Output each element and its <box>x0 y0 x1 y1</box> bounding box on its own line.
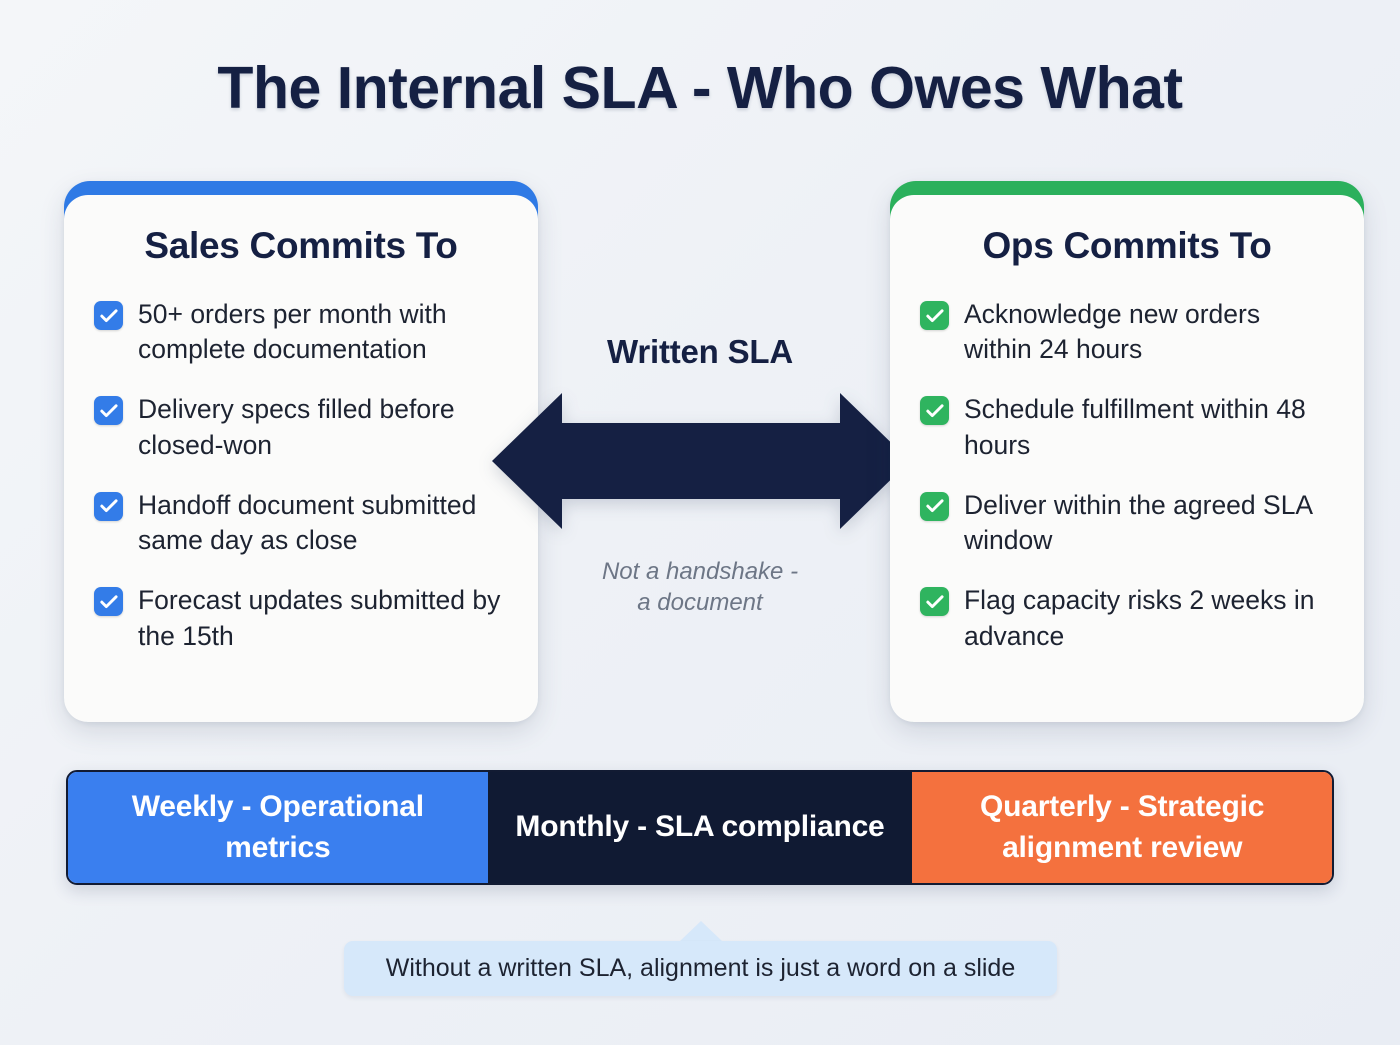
list-item: Acknowledge new orders within 24 hours <box>920 297 1334 367</box>
sales-card-body: Sales Commits To 50+ orders per month wi… <box>64 195 538 722</box>
bidirectional-arrow-icon <box>492 391 910 531</box>
check-icon <box>920 492 949 521</box>
cadence-segment-monthly[interactable]: Monthly - SLA compliance <box>488 772 913 883</box>
check-icon <box>94 396 123 425</box>
center-note-line2: a document <box>637 589 762 616</box>
list-item-label: Delivery specs filled before closed-won <box>138 392 508 462</box>
ops-card-title: Ops Commits To <box>920 225 1334 267</box>
check-icon <box>920 301 949 330</box>
page-title: The Internal SLA - Who Owes What <box>0 56 1400 121</box>
list-item-label: Acknowledge new orders within 24 hours <box>964 297 1334 367</box>
list-item: Forecast updates submitted by the 15th <box>94 583 508 653</box>
footer-callout: Without a written SLA, alignment is just… <box>344 941 1057 996</box>
sales-commit-list: 50+ orders per month with complete docum… <box>94 297 508 654</box>
list-item-label: Deliver within the agreed SLA window <box>964 488 1334 558</box>
check-icon <box>920 396 949 425</box>
sales-card-title: Sales Commits To <box>94 225 508 267</box>
ops-card-body: Ops Commits To Acknowledge new orders wi… <box>890 195 1364 722</box>
list-item: Delivery specs filled before closed-won <box>94 392 508 462</box>
list-item-label: Schedule fulfillment within 48 hours <box>964 392 1334 462</box>
center-heading: Written SLA <box>500 333 900 371</box>
check-icon <box>920 587 949 616</box>
center-note: Not a handshake - a document <box>510 556 890 618</box>
ops-commit-list: Acknowledge new orders within 24 hours S… <box>920 297 1334 654</box>
list-item-label: Flag capacity risks 2 weeks in advance <box>964 583 1334 653</box>
sales-commits-card: Sales Commits To 50+ orders per month wi… <box>64 181 538 722</box>
infographic-stage: The Internal SLA - Who Owes What Sales C… <box>0 0 1400 1045</box>
cadence-segment-quarterly[interactable]: Quarterly - Strategic alignment review <box>912 772 1332 883</box>
cadence-bar: Weekly - Operational metrics Monthly - S… <box>66 770 1334 885</box>
ops-commits-card: Ops Commits To Acknowledge new orders wi… <box>890 181 1364 722</box>
list-item: Deliver within the agreed SLA window <box>920 488 1334 558</box>
check-icon <box>94 301 123 330</box>
cadence-segment-weekly[interactable]: Weekly - Operational metrics <box>68 772 488 883</box>
list-item: Handoff document submitted same day as c… <box>94 488 508 558</box>
center-note-line1: Not a handshake - <box>602 558 798 585</box>
list-item: Schedule fulfillment within 48 hours <box>920 392 1334 462</box>
list-item-label: 50+ orders per month with complete docum… <box>138 297 508 367</box>
list-item: 50+ orders per month with complete docum… <box>94 297 508 367</box>
list-item-label: Forecast updates submitted by the 15th <box>138 583 508 653</box>
check-icon <box>94 492 123 521</box>
list-item-label: Handoff document submitted same day as c… <box>138 488 508 558</box>
callout-tail <box>679 921 723 942</box>
check-icon <box>94 587 123 616</box>
list-item: Flag capacity risks 2 weeks in advance <box>920 583 1334 653</box>
